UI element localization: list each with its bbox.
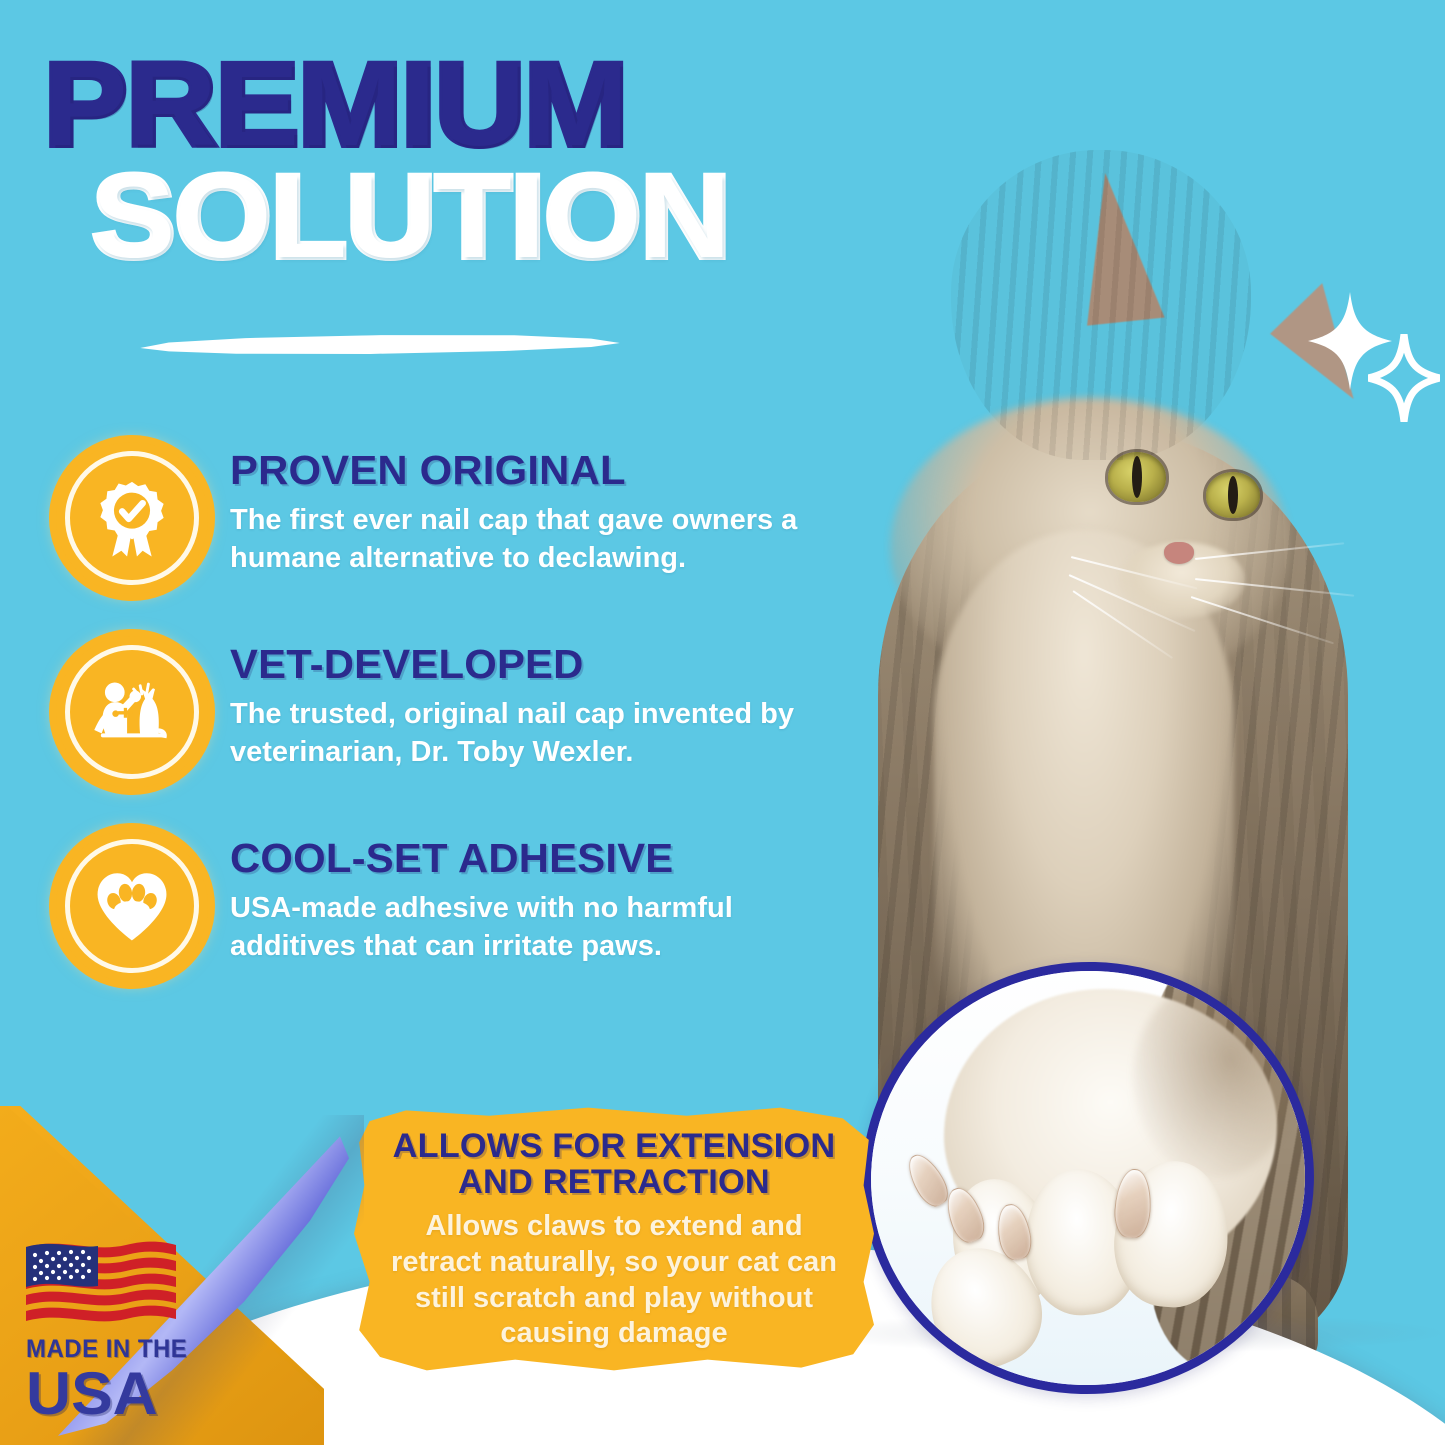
extension-retraction-callout: ALLOWS FOR EXTENSION AND RETRACTION Allo… bbox=[354, 1105, 874, 1373]
cat-nose bbox=[1164, 542, 1194, 564]
vet-high-five-cat-icon bbox=[56, 636, 208, 788]
feature-text: PROVEN ORIGINAL The first ever nail cap … bbox=[230, 442, 820, 577]
feature-title: COOL-SET ADHESIVE bbox=[230, 838, 832, 879]
feature-text: VET-DEVELOPED The trusted, original nail… bbox=[230, 636, 820, 771]
cat-eye-left bbox=[1108, 452, 1166, 502]
award-ribbon-check-icon bbox=[56, 442, 208, 594]
paw-inset-inner bbox=[863, 963, 1313, 1393]
feature-description: The first ever nail cap that gave owners… bbox=[230, 502, 820, 577]
usa-label: USA bbox=[26, 1365, 213, 1423]
usa-flag-icon bbox=[26, 1237, 176, 1329]
feature-item: COOL-SET ADHESIVE USA-made adhesive with… bbox=[56, 830, 846, 982]
page-title: PREMIUM SOLUTION bbox=[44, 52, 834, 270]
feature-description: The trusted, original nail cap invented … bbox=[230, 696, 820, 771]
paw-shading bbox=[1133, 980, 1295, 1178]
headline-line-premium: PREMIUM bbox=[44, 52, 881, 158]
callout-body: Allows claws to extend and retract natur… bbox=[380, 1209, 848, 1352]
feature-title: PROVEN ORIGINAL bbox=[230, 450, 832, 491]
cat-paw-with-nail-caps-photo bbox=[847, 947, 1328, 1409]
feature-list: PROVEN ORIGINAL The first ever nail cap … bbox=[56, 442, 846, 1024]
feature-title: VET-DEVELOPED bbox=[230, 644, 832, 685]
made-in-usa-badge: MADE IN THE USA bbox=[26, 1237, 206, 1423]
feature-item: VET-DEVELOPED The trusted, original nail… bbox=[56, 636, 846, 788]
headline-line-solution: SOLUTION bbox=[92, 164, 879, 270]
callout-title: ALLOWS FOR EXTENSION AND RETRACTION bbox=[378, 1129, 851, 1200]
made-in-label: MADE IN THE bbox=[26, 1337, 199, 1362]
cat-head bbox=[951, 150, 1251, 460]
cat-ear-left bbox=[1071, 168, 1164, 325]
cat-eye-right bbox=[1206, 472, 1260, 518]
heart-paw-icon bbox=[56, 830, 208, 982]
infographic-canvas: PREMIUM SOLUTION PROVEN ORIGINAL The fir… bbox=[0, 0, 1445, 1445]
feature-item: PROVEN ORIGINAL The first ever nail cap … bbox=[56, 442, 846, 594]
sparkle-outline-icon bbox=[1368, 334, 1440, 422]
feature-text: COOL-SET ADHESIVE USA-made adhesive with… bbox=[230, 830, 820, 965]
feature-description: USA-made adhesive with no harmful additi… bbox=[230, 890, 820, 965]
